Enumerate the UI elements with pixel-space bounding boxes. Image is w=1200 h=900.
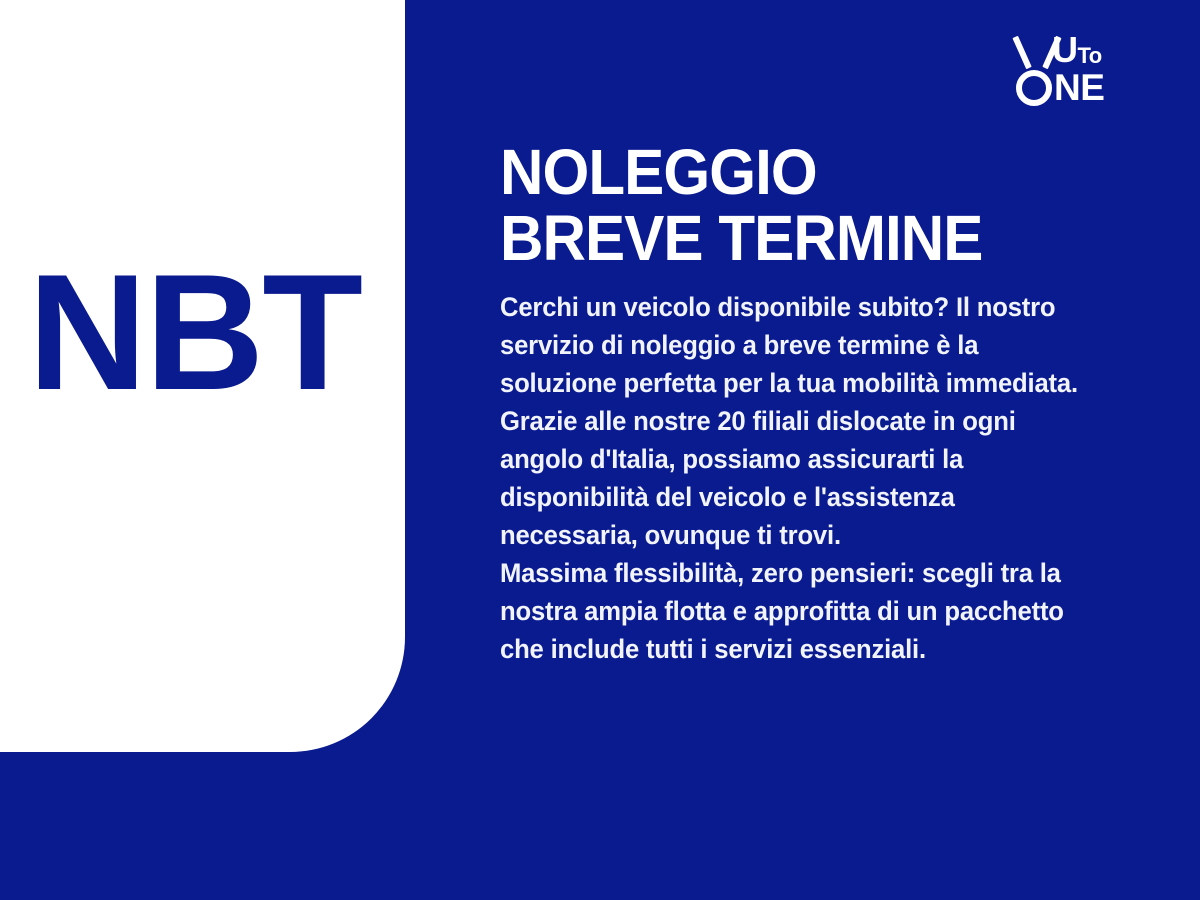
auto-one-logo: U To NE [1016, 32, 1156, 106]
logo-ne-letters: NE [1054, 70, 1104, 106]
content-column: NOLEGGIO BREVE TERMINE Cerchi un veicolo… [500, 140, 1130, 668]
body-paragraph-1: Cerchi un veicolo disponibile subito? Il… [500, 288, 1099, 402]
nbt-mark: NBT [0, 0, 405, 752]
body-paragraph-2: Grazie alle nostre 20 filiali dislocate … [500, 402, 1099, 554]
body-copy: Cerchi un veicolo disponibile subito? Il… [500, 288, 1099, 668]
nbt-abbreviation: NBT [28, 250, 361, 415]
promo-banner: NBT U To NE NOLEGGIO BREVE TERMINE Cerch… [0, 0, 1200, 900]
headline-line-1: NOLEGGIO [500, 140, 1092, 206]
page-title: NOLEGGIO BREVE TERMINE [500, 140, 1092, 272]
logo-line-one: NE [1016, 70, 1156, 106]
body-paragraph-3: Massima flessibilità, zero pensieri: sce… [500, 554, 1099, 668]
logo-to-letters: To [1078, 45, 1102, 68]
logo-a-chevron-icon [1022, 36, 1052, 68]
logo-o-circle-icon [1016, 70, 1052, 106]
left-white-panel: NBT [0, 0, 405, 752]
headline-line-2: BREVE TERMINE [500, 206, 1092, 272]
logo-line-auto: U To [1016, 32, 1156, 68]
